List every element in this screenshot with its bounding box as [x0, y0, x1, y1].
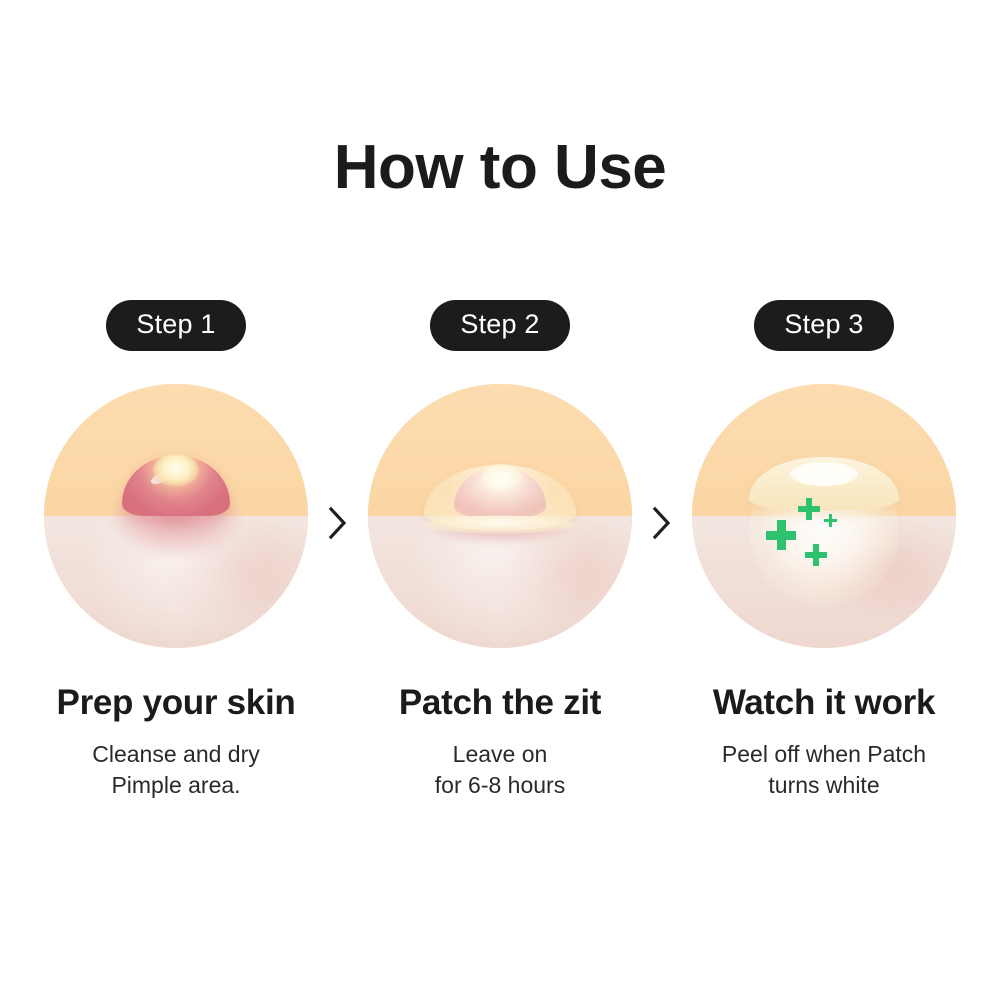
step-subtext-1-line-1: Cleanse and dry [26, 739, 326, 771]
sparkle-plus-icon [798, 498, 820, 520]
step-badge-1: Step 1 [106, 300, 245, 351]
infographic-root: How to Use Step 1 Prep your skin Cleanse… [0, 0, 1000, 1000]
step-badge-2: Step 2 [430, 300, 569, 351]
patch-highlight [790, 462, 858, 486]
step-heading-2: Patch the zit [350, 684, 650, 723]
pimple-head-icon [153, 454, 199, 486]
step-illustration-1 [44, 384, 308, 648]
step-subtext-2-line-1: Leave on [350, 739, 650, 771]
sparkle-plus-icon [805, 544, 827, 566]
step-badge-3: Step 3 [754, 300, 893, 351]
chevron-right-icon [651, 505, 673, 541]
separator-1 [326, 300, 350, 541]
step-subtext-1: Cleanse and dry Pimple area. [26, 739, 326, 802]
chevron-right-icon [327, 505, 349, 541]
step-heading-1: Prep your skin [26, 684, 326, 723]
step-card-2: Step 2 Patch the zit Leave on for 6-8 ho… [350, 300, 650, 802]
step-card-3: Step 3 Watch it work Peel off when Patch… [674, 300, 974, 802]
step-caption-3: Watch it work Peel off when Patch turns … [674, 684, 974, 802]
step-caption-1: Prep your skin Cleanse and dry Pimple ar… [26, 684, 326, 802]
step-illustration-3 [692, 384, 956, 648]
step-illustration-2 [368, 384, 632, 648]
step-subtext-2: Leave on for 6-8 hours [350, 739, 650, 802]
separator-2 [650, 300, 674, 541]
step-card-1: Step 1 Prep your skin Cleanse and dry Pi… [26, 300, 326, 802]
patch-edge [424, 516, 576, 534]
step-subtext-3-line-1: Peel off when Patch [674, 739, 974, 771]
step-subtext-2-line-2: for 6-8 hours [350, 770, 650, 802]
step-subtext-3: Peel off when Patch turns white [674, 739, 974, 802]
sparkle-plus-icon [766, 520, 796, 550]
steps-row: Step 1 Prep your skin Cleanse and dry Pi… [0, 300, 1000, 802]
step-caption-2: Patch the zit Leave on for 6-8 hours [350, 684, 650, 802]
sparkle-plus-icon [824, 514, 837, 527]
step-subtext-3-line-2: turns white [674, 770, 974, 802]
step-subtext-1-line-2: Pimple area. [26, 770, 326, 802]
step-heading-3: Watch it work [674, 684, 974, 723]
page-title: How to Use [0, 132, 1000, 203]
